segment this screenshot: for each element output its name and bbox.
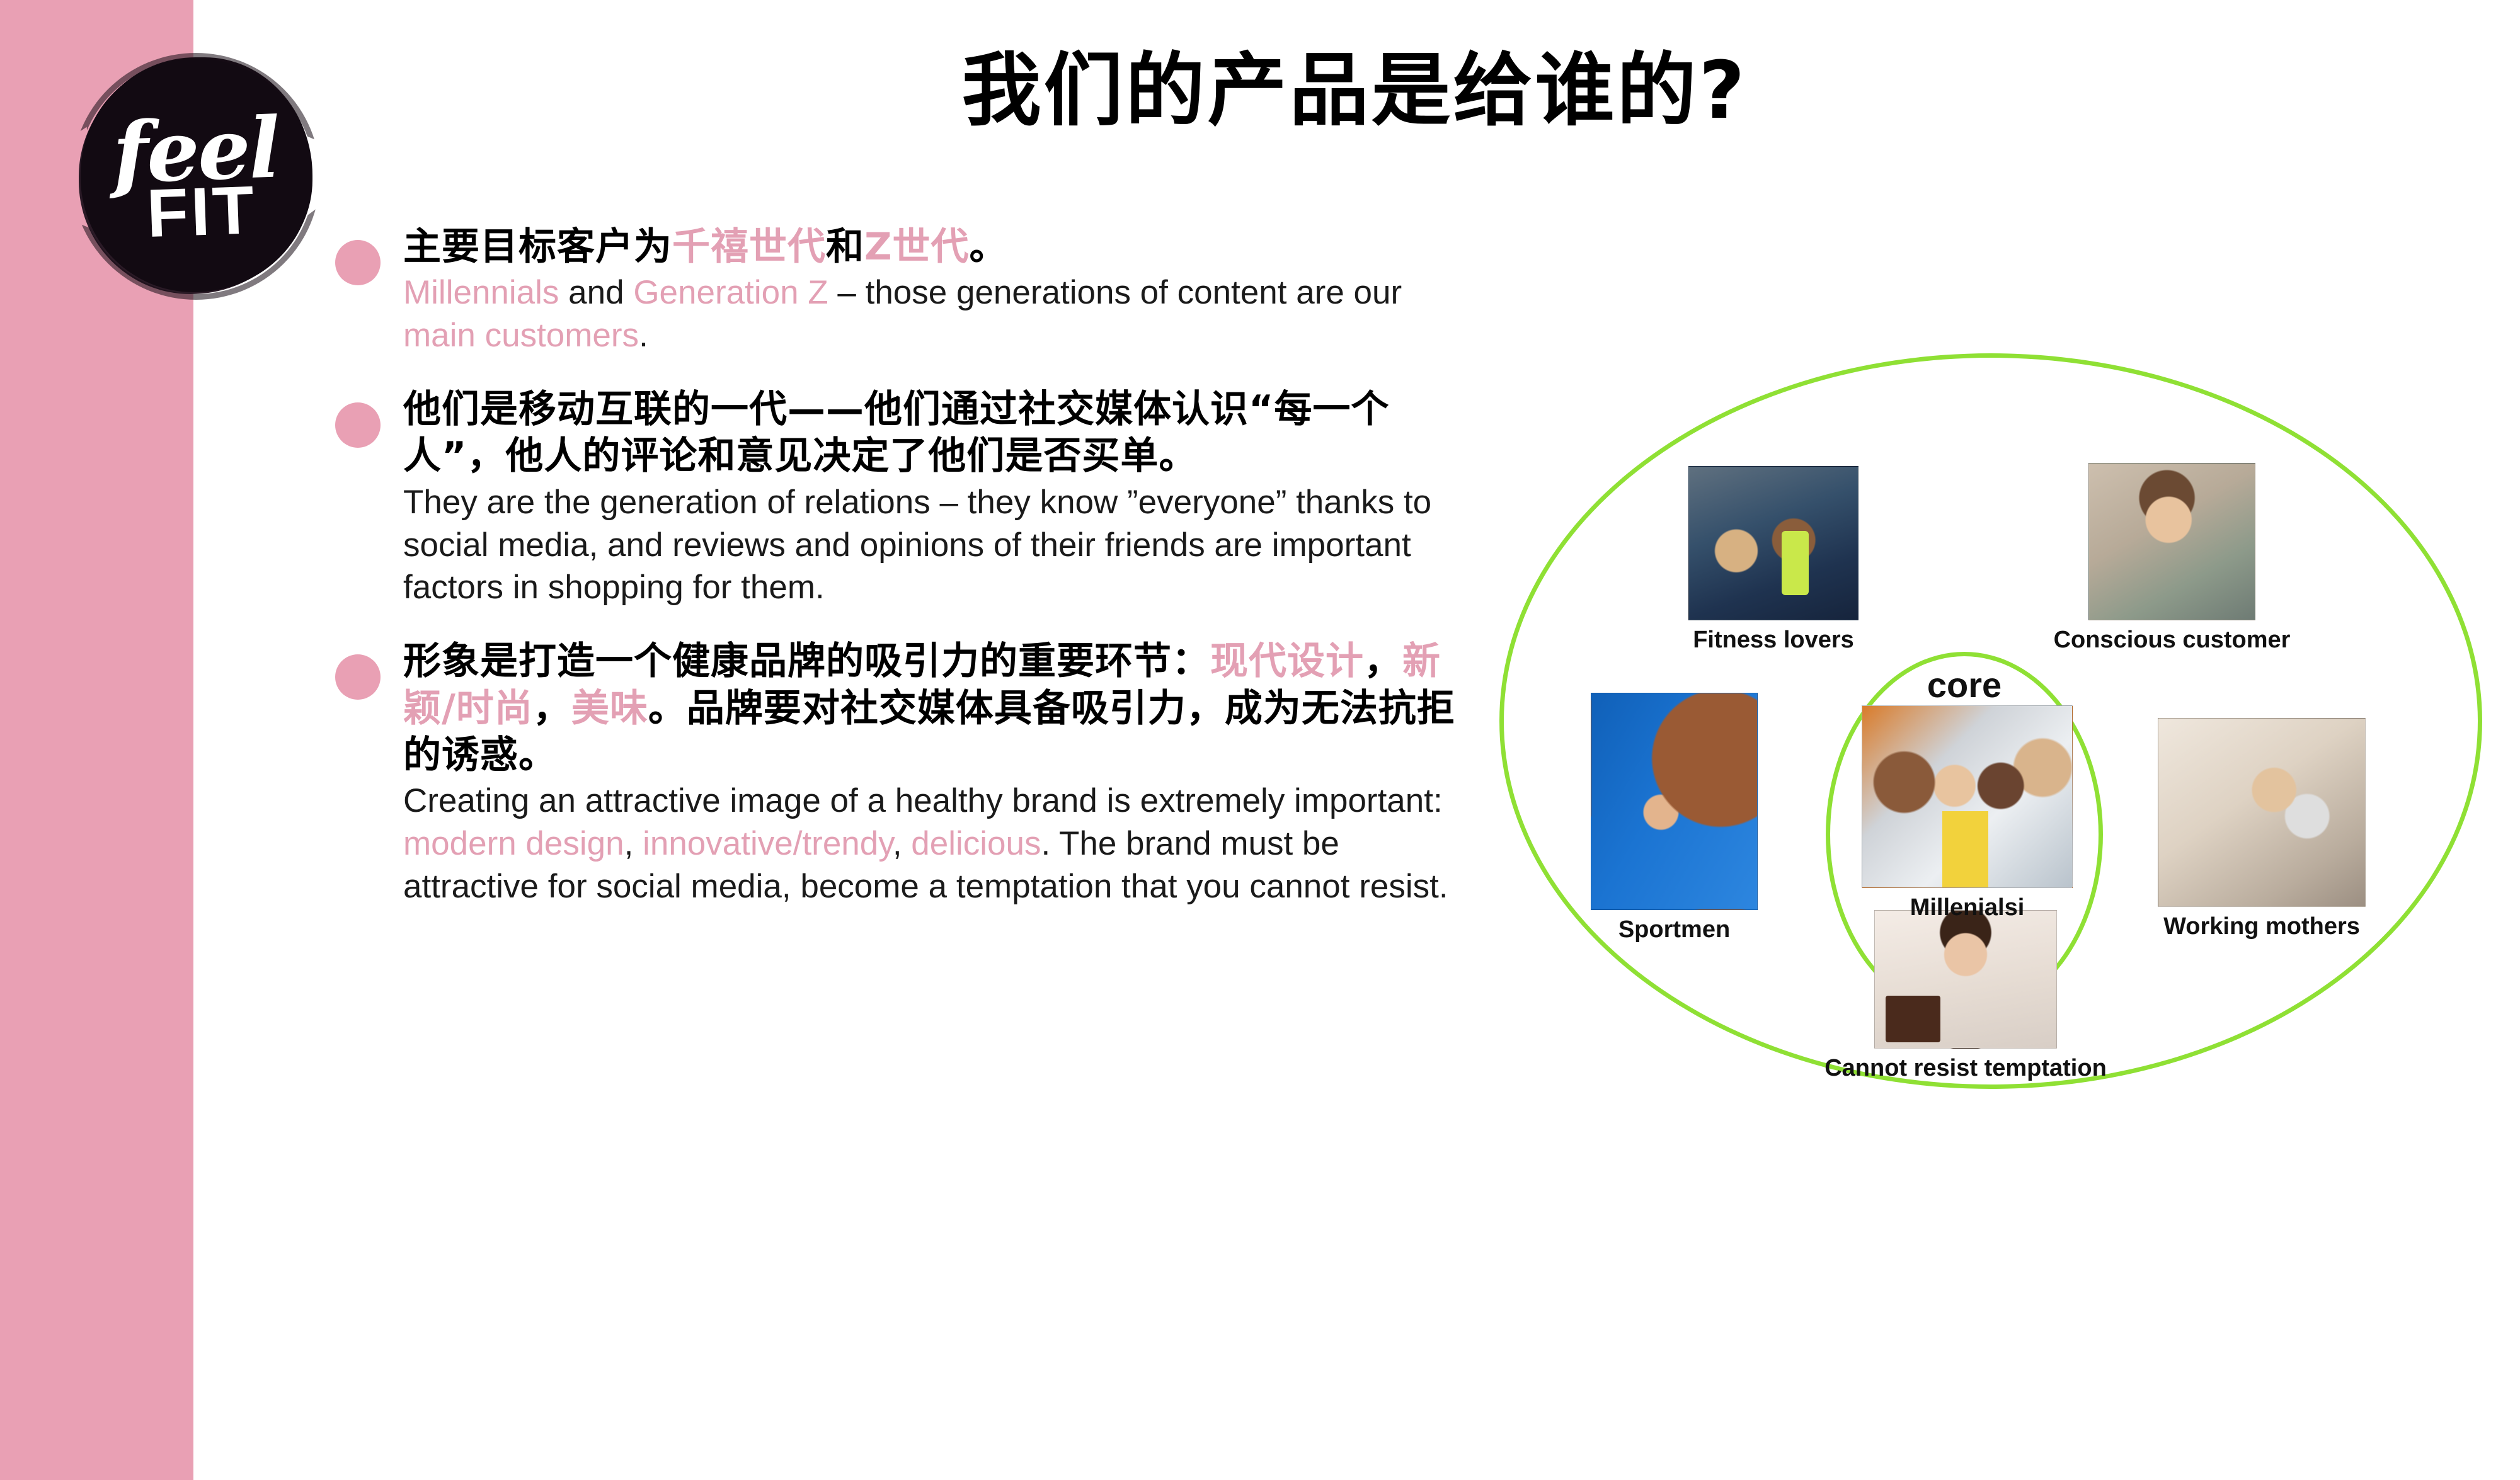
b1-en-mid1: and — [559, 274, 633, 311]
segment-sportmen: Sportmen — [1591, 693, 1758, 910]
slide-canvas: feel FIT 我们的产品是给谁的? 主要目标客户为千禧世代和Z世代。 Mil… — [0, 0, 2520, 1480]
b3-en-hl3: delicious — [911, 825, 1041, 862]
b1-en-hl1: Millennials — [403, 274, 559, 311]
working-mothers-photo — [2158, 718, 2366, 907]
logo-brush-circle — [81, 59, 311, 292]
segment-cannot-resist-temptation: Cannot resist temptation — [1874, 910, 2057, 1049]
b1-cn-mid: 和 — [826, 225, 864, 269]
feel-fit-logo: feel FIT — [69, 49, 321, 301]
bullet-dot-icon — [335, 402, 381, 448]
bullet-item-1: 主要目标客户为千禧世代和Z世代。 Millennials and Generat… — [321, 224, 1462, 357]
b3-en-sep2: , — [893, 825, 911, 862]
segment-conscious-customer: Conscious customer — [2088, 463, 2255, 620]
b1-cn-hl1: 千禧世代 — [672, 225, 826, 269]
audience-segments-diagram: core Fitness lovers Conscious customer S… — [1493, 350, 2501, 1099]
bullet-dot-icon — [335, 654, 381, 700]
b3-en-pre: Creating an attractive image of a health… — [403, 782, 1443, 819]
bullet-3-english: Creating an attractive image of a health… — [403, 780, 1462, 908]
b1-en-mid2: – those generations of content are our — [828, 274, 1402, 311]
b1-en-post: . — [639, 317, 648, 354]
b3-cn-pre: 形象是打造一个健康品牌的吸引力的重要环节： — [403, 639, 1210, 683]
bullet-2-chinese: 他们是移动互联的一代——他们通过社交媒体认识“每一个人”，他人的评论和意见决定了… — [403, 386, 1462, 480]
sportmen-photo — [1591, 693, 1758, 910]
b1-cn-hl2: Z世代 — [864, 225, 970, 269]
fitness-lovers-photo — [1688, 466, 1858, 620]
core-label: core — [1826, 664, 2103, 705]
bullet-1-chinese: 主要目标客户为千禧世代和Z世代。 — [403, 224, 1462, 270]
b1-en-hl3: main customers — [403, 317, 639, 354]
page-title: 我们的产品是给谁的? — [724, 26, 1984, 141]
segment-fitness-lovers: Fitness lovers — [1688, 466, 1858, 620]
millenialsi-photo — [1862, 705, 2073, 888]
b3-en-sep1: , — [624, 825, 643, 862]
b1-cn-pre: 主要目标客户为 — [403, 225, 672, 269]
segment-label: Working mothers — [2163, 913, 2360, 940]
cannot-resist-temptation-photo — [1874, 910, 2057, 1049]
bullet-1-english: Millennials and Generation Z – those gen… — [403, 271, 1462, 357]
segment-label: Cannot resist temptation — [1824, 1055, 2107, 1082]
segment-working-mothers: Working mothers — [2158, 718, 2366, 907]
b3-cn-sep1: ， — [1364, 639, 1402, 683]
conscious-customer-photo — [2088, 463, 2255, 620]
bullet-2-english: They are the generation of relations – t… — [403, 481, 1462, 609]
b1-en-hl2: Generation Z — [633, 274, 828, 311]
b3-cn-hl3: 美味 — [571, 686, 648, 731]
segment-label: Fitness lovers — [1693, 627, 1854, 654]
b3-cn-hl1: 现代设计 — [1210, 639, 1364, 683]
segment-label: Millenialsi — [1910, 894, 2025, 921]
bullet-item-2: 他们是移动互联的一代——他们通过社交媒体认识“每一个人”，他人的评论和意见决定了… — [321, 386, 1462, 609]
b3-en-hl1: modern design — [403, 825, 624, 862]
b3-cn-sep2: ， — [533, 686, 571, 731]
b1-cn-post: 。 — [970, 225, 1008, 269]
segment-millenialsi-core: Millenialsi — [1862, 705, 2073, 888]
bullet-list: 主要目标客户为千禧世代和Z世代。 Millennials and Generat… — [321, 224, 1462, 937]
bullet-3-chinese: 形象是打造一个健康品牌的吸引力的重要环节：现代设计，新颖/时尚，美味。品牌要对社… — [403, 638, 1462, 778]
segment-label: Sportmen — [1618, 916, 1730, 943]
b3-en-hl2: innovative/trendy — [643, 825, 893, 862]
bullet-dot-icon — [335, 240, 381, 285]
segment-label: Conscious customer — [2054, 627, 2291, 654]
bullet-item-3: 形象是打造一个健康品牌的吸引力的重要环节：现代设计，新颖/时尚，美味。品牌要对社… — [321, 638, 1462, 908]
